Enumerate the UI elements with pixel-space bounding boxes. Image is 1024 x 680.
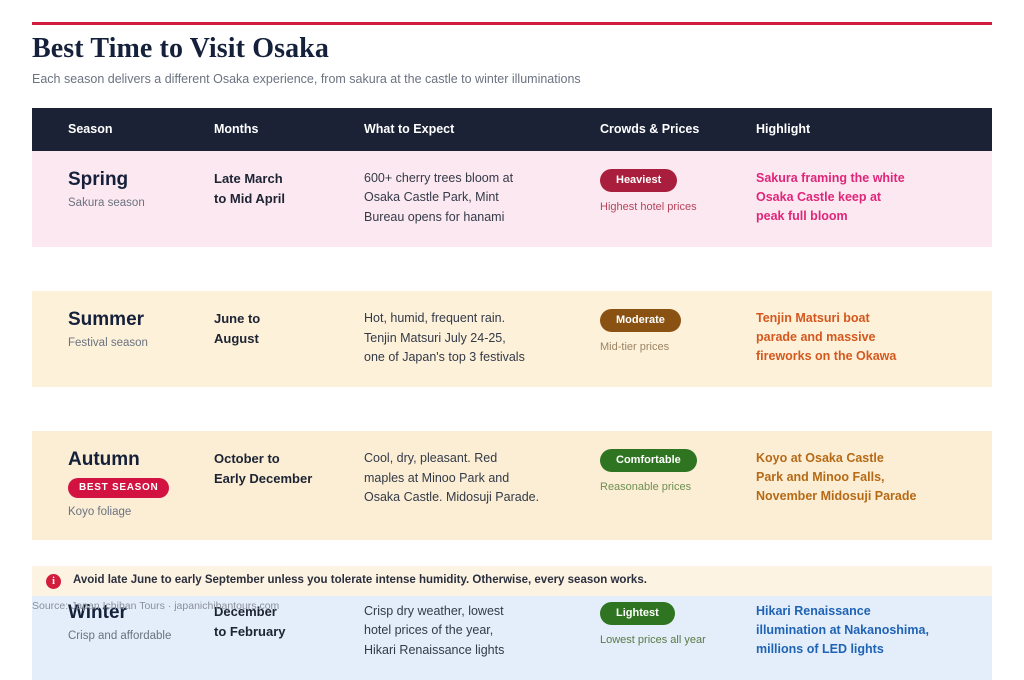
highlight-text: Tenjin Matsuri boat parade and massive f…: [756, 309, 978, 365]
cell-what-to-expect: 600+ cherry trees bloom at Osaka Castle …: [364, 151, 600, 247]
season-name: Autumn: [68, 449, 200, 471]
months-line-1: October to: [214, 451, 280, 466]
months-line-2: to Mid April: [214, 191, 285, 206]
months-line-2: August: [214, 331, 259, 346]
best-season-badge: BEST SEASON: [68, 478, 169, 498]
cell-months: Late March to Mid April: [214, 151, 364, 247]
infographic-page: Best Time to Visit Osaka Each season del…: [0, 0, 1024, 614]
page-header: Best Time to Visit Osaka Each season del…: [32, 0, 992, 87]
table-header-row: Season Months What to Expect Crowds & Pr…: [32, 108, 992, 151]
expect-line-3: Osaka Castle. Midosuji Parade.: [364, 490, 539, 504]
page-title: Best Time to Visit Osaka: [32, 34, 992, 65]
top-accent-rule: [32, 22, 992, 25]
highlight-line-3: peak full bloom: [756, 209, 848, 223]
source-attribution: Source: Japan Ichiban Tours · japanichib…: [32, 600, 279, 613]
season-name: Summer: [68, 309, 200, 331]
price-note: Mid-tier prices: [600, 340, 742, 354]
cell-months: December to February: [214, 584, 364, 680]
crowd-level-badge: Comfortable: [600, 449, 697, 472]
highlight-line-1: Tenjin Matsuri boat: [756, 311, 870, 325]
column-header-what-to-expect: What to Expect: [364, 108, 600, 151]
cell-what-to-expect: Crisp dry weather, lowest hotel prices o…: [364, 584, 600, 680]
expect-text: Hot, humid, frequent rain. Tenjin Matsur…: [364, 309, 586, 367]
months-text: October to Early December: [214, 449, 350, 488]
cell-season: Autumn BEST SEASON Koyo foliage: [32, 431, 214, 540]
advisory-callout: i Avoid late June to early September unl…: [32, 566, 992, 596]
cell-season: Spring Sakura season: [32, 151, 214, 247]
highlight-line-2: Park and Minoo Falls,: [756, 470, 885, 484]
months-line-2: to February: [214, 624, 286, 639]
expect-line-3: Hikari Renaissance lights: [364, 643, 504, 657]
expect-line-2: Osaka Castle Park, Mint: [364, 190, 499, 204]
cell-crowds-prices: Heaviest Highest hotel prices: [600, 151, 756, 247]
highlight-line-3: millions of LED lights: [756, 642, 884, 656]
cell-months: October to Early December: [214, 431, 364, 540]
price-note: Reasonable prices: [600, 480, 742, 494]
season-subtitle: Festival season: [68, 336, 200, 351]
expect-line-2: hotel prices of the year,: [364, 623, 493, 637]
info-icon: i: [46, 574, 61, 589]
cell-highlight: Hikari Renaissance illumination at Nakan…: [756, 584, 992, 680]
row-separator: [32, 247, 992, 291]
cell-crowds-prices: Lightest Lowest prices all year: [600, 584, 756, 680]
expect-line-2: maples at Minoo Park and: [364, 471, 509, 485]
expect-line-1: Hot, humid, frequent rain.: [364, 311, 505, 325]
table-header: Season Months What to Expect Crowds & Pr…: [32, 108, 992, 151]
table-row: Winter Crisp and affordable December to …: [32, 584, 992, 680]
cell-what-to-expect: Cool, dry, pleasant. Red maples at Minoo…: [364, 431, 600, 540]
expect-line-1: 600+ cherry trees bloom at: [364, 171, 513, 185]
highlight-line-3: fireworks on the Okawa: [756, 349, 896, 363]
cell-months: June to August: [214, 291, 364, 387]
months-line-2: Early December: [214, 471, 312, 486]
expect-line-3: Bureau opens for hanami: [364, 210, 504, 224]
expect-line-3: one of Japan's top 3 festivals: [364, 350, 525, 364]
highlight-text: Sakura framing the white Osaka Castle ke…: [756, 169, 978, 225]
row-separator: [32, 387, 992, 431]
months-line-1: Late March: [214, 171, 283, 186]
column-header-season: Season: [32, 108, 214, 151]
expect-text: 600+ cherry trees bloom at Osaka Castle …: [364, 169, 586, 227]
column-header-highlight: Highlight: [756, 108, 992, 151]
cell-what-to-expect: Hot, humid, frequent rain. Tenjin Matsur…: [364, 291, 600, 387]
expect-line-2: Tenjin Matsuri July 24-25,: [364, 331, 506, 345]
table-row: Autumn BEST SEASON Koyo foliage October …: [32, 431, 992, 540]
expect-text: Cool, dry, pleasant. Red maples at Minoo…: [364, 449, 586, 507]
highlight-line-1: Koyo at Osaka Castle: [756, 451, 884, 465]
highlight-line-2: Osaka Castle keep at: [756, 190, 881, 204]
cell-season: Winter Crisp and affordable: [32, 584, 214, 680]
cell-crowds-prices: Moderate Mid-tier prices: [600, 291, 756, 387]
months-text: June to August: [214, 309, 350, 348]
crowd-level-badge: Moderate: [600, 309, 681, 332]
expect-text: Crisp dry weather, lowest hotel prices o…: [364, 602, 586, 660]
cell-season: Summer Festival season: [32, 291, 214, 387]
page-subtitle: Each season delivers a different Osaka e…: [32, 71, 992, 87]
highlight-line-1: Hikari Renaissance: [756, 604, 871, 618]
months-text: Late March to Mid April: [214, 169, 350, 208]
expect-line-1: Cool, dry, pleasant. Red: [364, 451, 497, 465]
highlight-line-1: Sakura framing the white: [756, 171, 905, 185]
cell-crowds-prices: Comfortable Reasonable prices: [600, 431, 756, 540]
highlight-line-3: November Midosuji Parade: [756, 489, 916, 503]
highlight-line-2: illumination at Nakanoshima,: [756, 623, 929, 637]
highlight-line-2: parade and massive: [756, 330, 876, 344]
season-name: Spring: [68, 169, 200, 191]
season-subtitle: Sakura season: [68, 196, 200, 211]
months-line-1: June to: [214, 311, 260, 326]
price-note: Highest hotel prices: [600, 200, 742, 214]
season-subtitle: Koyo foliage: [68, 505, 200, 520]
table-row: Spring Sakura season Late March to Mid A…: [32, 151, 992, 247]
price-note: Lowest prices all year: [600, 633, 742, 647]
cell-highlight: Koyo at Osaka Castle Park and Minoo Fall…: [756, 431, 992, 540]
cell-highlight: Sakura framing the white Osaka Castle ke…: [756, 151, 992, 247]
table-row: Summer Festival season June to August Ho…: [32, 291, 992, 387]
column-header-months: Months: [214, 108, 364, 151]
advisory-text: Avoid late June to early September unles…: [73, 574, 647, 588]
cell-highlight: Tenjin Matsuri boat parade and massive f…: [756, 291, 992, 387]
highlight-text: Koyo at Osaka Castle Park and Minoo Fall…: [756, 449, 978, 505]
expect-line-1: Crisp dry weather, lowest: [364, 604, 504, 618]
season-subtitle: Crisp and affordable: [68, 629, 200, 644]
crowd-level-badge: Heaviest: [600, 169, 677, 192]
highlight-text: Hikari Renaissance illumination at Nakan…: [756, 602, 978, 658]
column-header-crowds-prices: Crowds & Prices: [600, 108, 756, 151]
